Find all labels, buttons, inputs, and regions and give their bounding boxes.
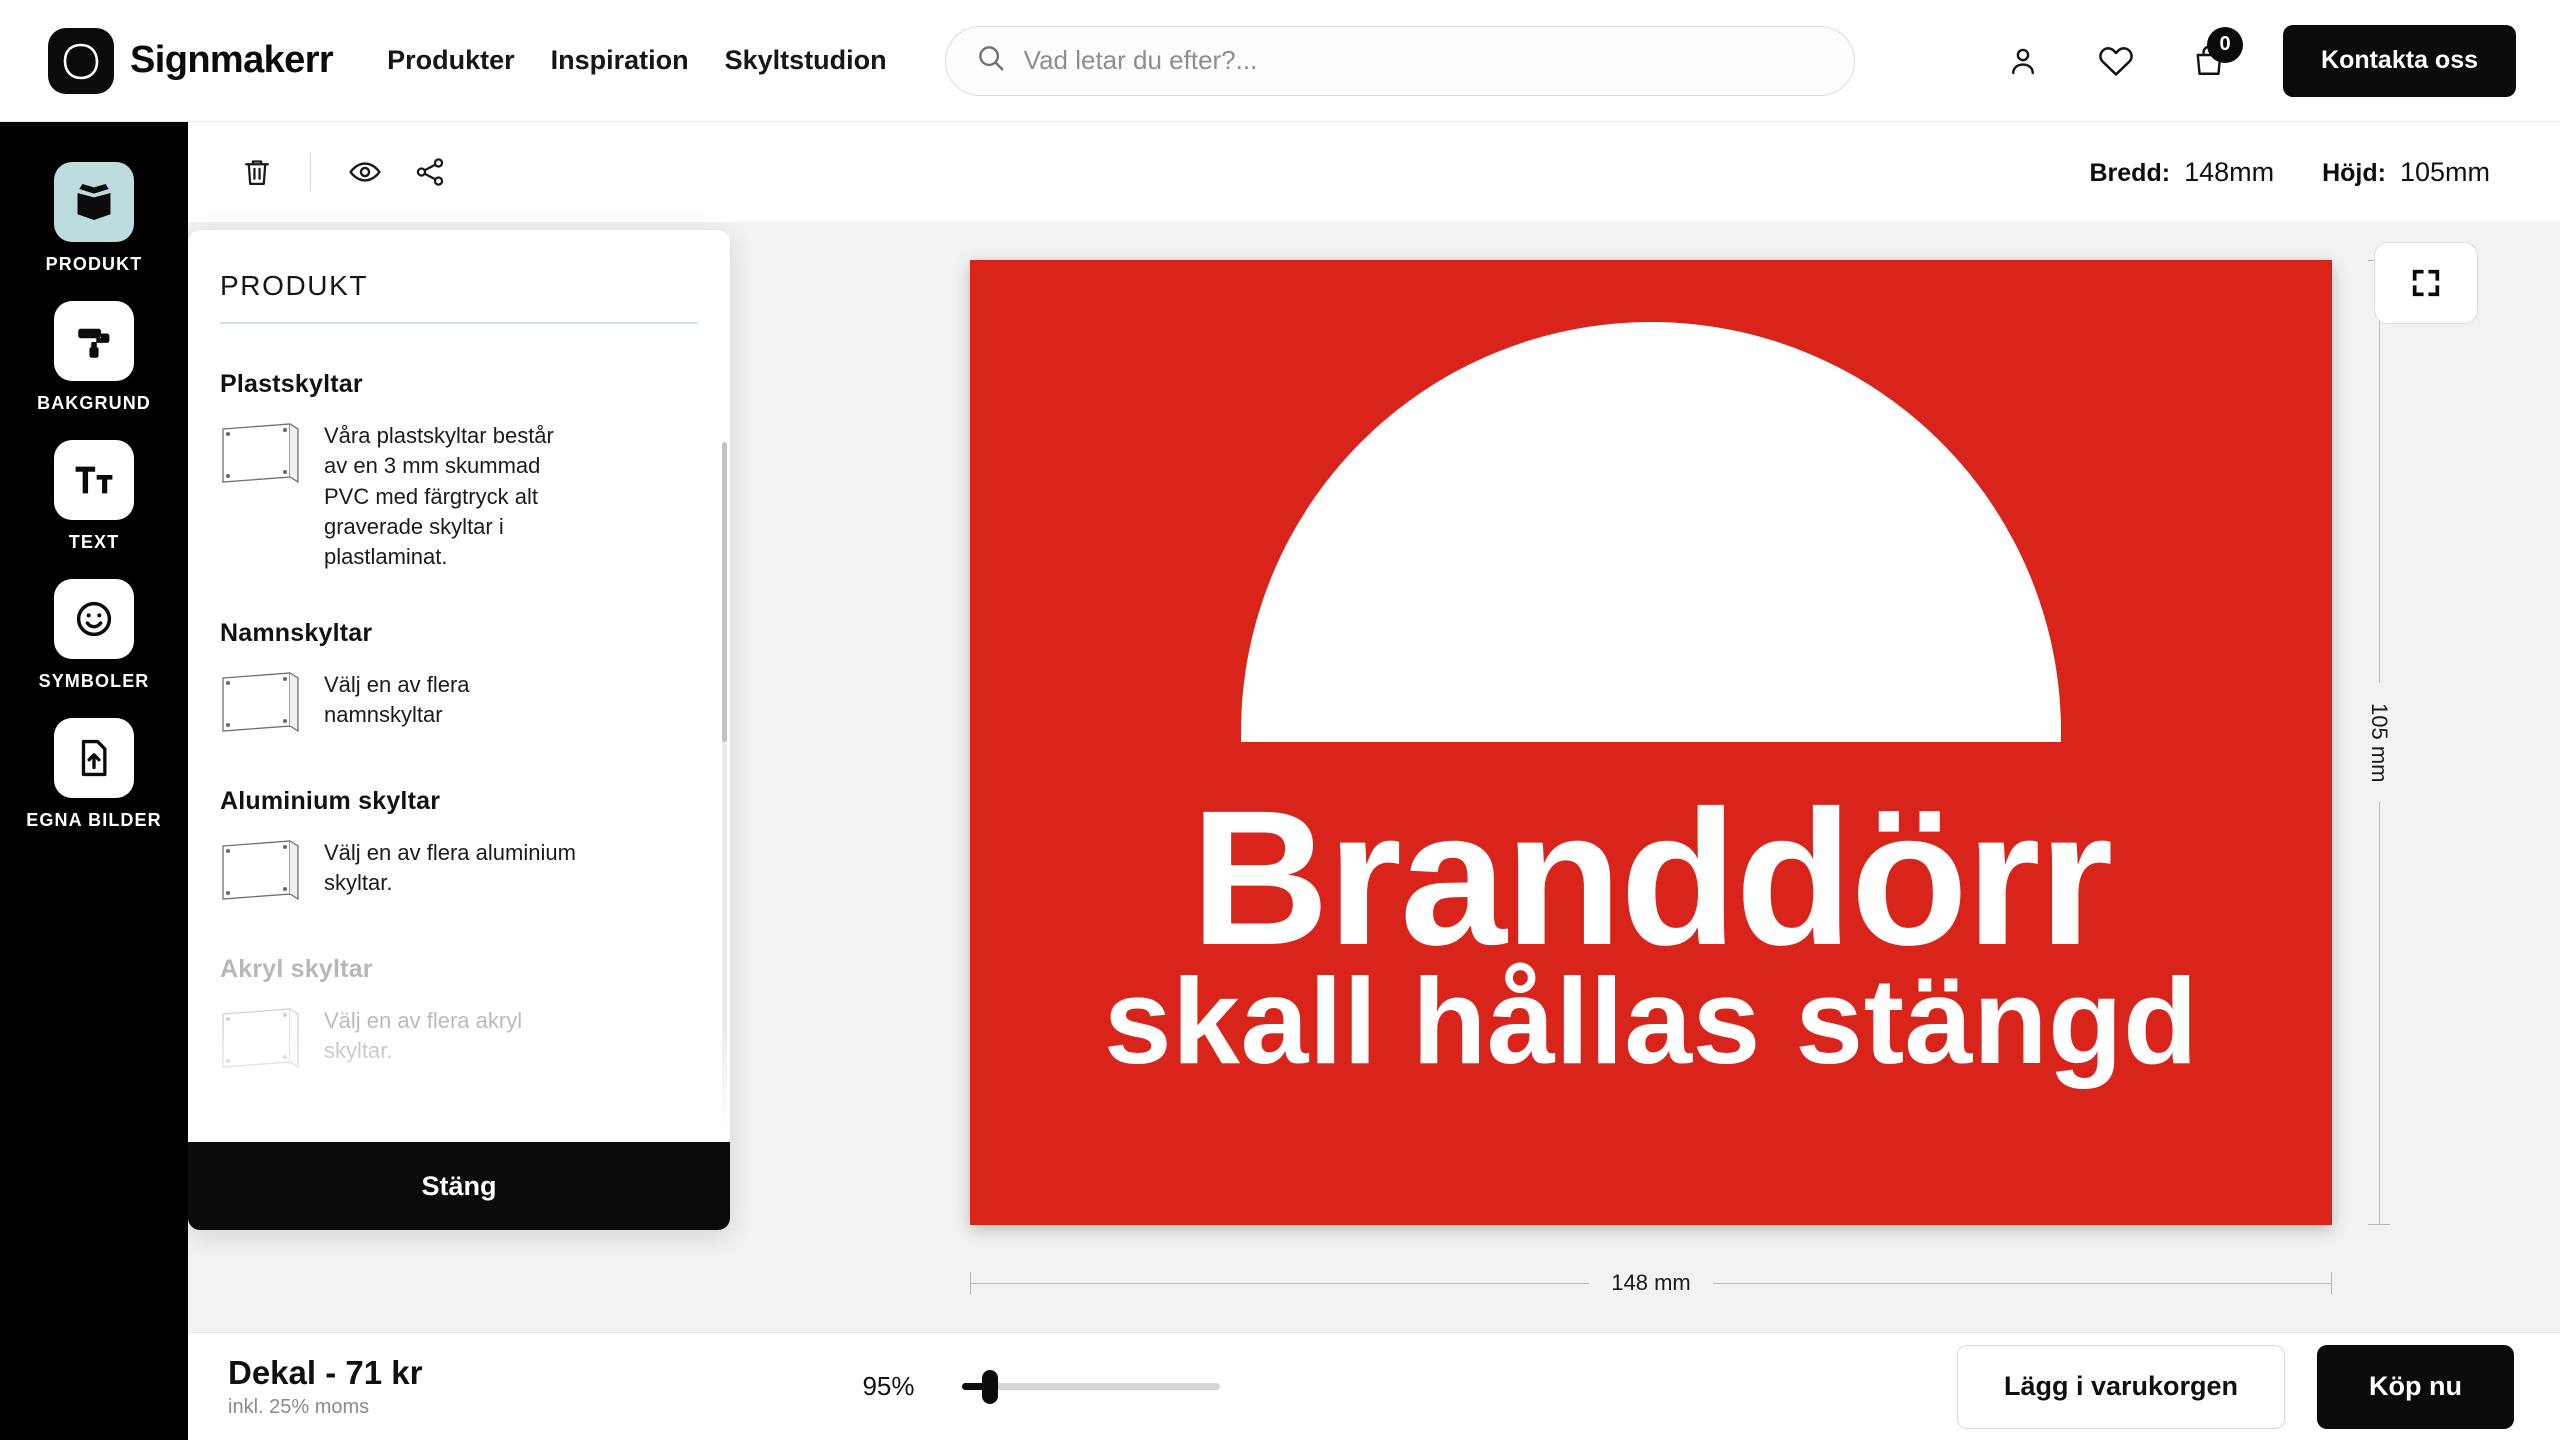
contact-button[interactable]: Kontakta oss: [2283, 25, 2516, 97]
dimension-width: Bredd: 148mm: [2090, 157, 2275, 188]
height-value: 105mm: [2400, 157, 2490, 188]
product-row: Välj en av flera akryl skyltar.: [220, 1006, 698, 1077]
sign-text-line2[interactable]: skall hållas stängd: [970, 960, 2332, 1082]
rail-label-egna-bilder: EGNA BILDER: [26, 810, 161, 831]
width-guide-label: 148 mm: [1589, 1270, 1712, 1296]
panel-close-button[interactable]: Stäng: [188, 1142, 730, 1230]
rail-item-symboler[interactable]: SYMBOLER: [39, 579, 150, 692]
product-row: Välj en av flera namnskyltar: [220, 670, 698, 741]
guide-line-left: [971, 1283, 1589, 1284]
text-tt-icon: [54, 440, 134, 520]
product-name: Akryl skyltar: [220, 955, 698, 984]
panel-header: PRODUKT: [188, 230, 730, 324]
product-description: Välj en av flera namnskyltar: [324, 670, 579, 731]
trash-icon[interactable]: [240, 155, 274, 189]
price-title: Dekal - 71 kr: [228, 1354, 422, 1392]
height-guide-label: 105 mm: [2366, 683, 2392, 802]
dimension-height: Höjd: 105mm: [2322, 157, 2490, 188]
brand-name: Signmakerr: [130, 39, 333, 82]
product-item-aluminium-skyltar[interactable]: Aluminium skyltar Välj en av flera alumi…: [220, 787, 698, 909]
product-list[interactable]: Plastskyltar Våra plastskyltar består av…: [188, 324, 730, 1142]
fullscreen-expand-icon[interactable]: [2374, 242, 2478, 324]
guide-line-bottom: [2379, 802, 2380, 1224]
product-name: Aluminium skyltar: [220, 787, 698, 816]
nav-link-skyltstudion[interactable]: Skyltstudion: [725, 45, 887, 76]
tool-rail: PRODUKT BAKGRUND TEXT: [0, 122, 188, 1440]
height-label: Höjd:: [2322, 159, 2386, 188]
product-name: Namnskyltar: [220, 619, 698, 648]
guide-cap-right: [2331, 1272, 2332, 1294]
rail-item-produkt[interactable]: PRODUKT: [46, 162, 143, 275]
zoom-slider[interactable]: [962, 1370, 1220, 1404]
rail-item-bakgrund[interactable]: BAKGRUND: [37, 301, 151, 414]
sign-dimensions: Bredd: 148mm Höjd: 105mm: [2090, 157, 2491, 188]
editor-toolbar: Bredd: 148mm Höjd: 105mm: [188, 122, 2560, 222]
sign-preview[interactable]: Branddörr skall hållas stängd: [970, 260, 2332, 1225]
user-icon[interactable]: [2005, 43, 2041, 79]
guide-cap-bottom: [2368, 1224, 2390, 1225]
rail-item-text[interactable]: TEXT: [54, 440, 134, 553]
product-row: Välj en av flera aluminium skyltar.: [220, 838, 698, 909]
product-description: Välj en av flera aluminium skyltar.: [324, 838, 579, 899]
width-label: Bredd:: [2090, 159, 2171, 188]
open-box-icon: [54, 162, 134, 242]
product-item-akryl-skyltar[interactable]: Akryl skyltar Välj en av flera akryl sky…: [220, 955, 698, 1077]
sign-plate-icon: [220, 838, 302, 909]
rail-item-egna-bilder[interactable]: EGNA BILDER: [26, 718, 161, 831]
product-name: Plastskyltar: [220, 370, 698, 399]
search-bar[interactable]: [945, 26, 1855, 96]
guide-line-right: [1713, 1283, 2331, 1284]
width-value: 148mm: [2184, 157, 2274, 188]
brand-logo[interactable]: Signmakerr: [48, 28, 333, 94]
zoom-slider-thumb[interactable]: [982, 1370, 998, 1404]
panel-title: PRODUKT: [220, 270, 698, 302]
header-actions: 0 Kontakta oss: [2005, 25, 2516, 97]
width-guide: 148 mm: [970, 1270, 2332, 1296]
search-input[interactable]: [1024, 45, 1824, 76]
price-block: Dekal - 71 kr inkl. 25% moms: [228, 1354, 422, 1419]
cart-count-badge: 0: [2207, 27, 2243, 63]
sign-plate-icon: [220, 670, 302, 741]
toolbar-tools: [240, 153, 447, 191]
product-description: Välj en av flera akryl skyltar.: [324, 1006, 579, 1067]
product-item-plastskyltar[interactable]: Plastskyltar Våra plastskyltar består av…: [220, 370, 698, 573]
site-header: Signmakerr Produkter Inspiration Skyltst…: [0, 0, 2560, 122]
sign-plate-icon: [220, 421, 302, 492]
smiley-face-icon: [54, 579, 134, 659]
add-to-cart-button[interactable]: Lägg i varukorgen: [1957, 1345, 2285, 1429]
product-panel: PRODUKT Plastskyltar Våra plastskyltar b…: [188, 230, 730, 1230]
nav-link-produkter[interactable]: Produkter: [387, 45, 515, 76]
rail-label-text: TEXT: [69, 532, 119, 553]
toolbar-divider: [310, 153, 311, 191]
guide-line-top: [2379, 261, 2380, 683]
height-guide: 105 mm: [2366, 260, 2392, 1225]
search-icon: [976, 43, 1006, 78]
buy-now-button[interactable]: Köp nu: [2317, 1345, 2514, 1429]
cart-actions: Lägg i varukorgen Köp nu: [1957, 1345, 2514, 1429]
zoom-percentage: 95%: [862, 1371, 934, 1402]
sign-plate-icon: [220, 1006, 302, 1077]
heart-icon[interactable]: [2097, 42, 2135, 80]
paint-roller-icon: [54, 301, 134, 381]
sign-dome-shape: [1241, 322, 2061, 742]
bottom-bar: Dekal - 71 kr inkl. 25% moms 95% Lägg i …: [188, 1332, 2560, 1440]
price-subtitle: inkl. 25% moms: [228, 1396, 422, 1419]
product-row: Våra plastskyltar består av en 3 mm skum…: [220, 421, 698, 573]
nav-link-inspiration[interactable]: Inspiration: [551, 45, 689, 76]
product-description: Våra plastskyltar består av en 3 mm skum…: [324, 421, 579, 573]
rail-label-produkt: PRODUKT: [46, 254, 143, 275]
panel-scrollbar-thumb[interactable]: [722, 442, 727, 742]
file-upload-icon: [54, 718, 134, 798]
signmakerr-blob-logo-icon: [48, 28, 114, 94]
share-icon[interactable]: [413, 155, 447, 189]
main-nav: Produkter Inspiration Skyltstudion: [387, 45, 887, 76]
product-item-namnskyltar[interactable]: Namnskyltar Välj en av flera namnskyltar: [220, 619, 698, 741]
rail-label-bakgrund: BAKGRUND: [37, 393, 151, 414]
sign-text-line1[interactable]: Branddörr: [970, 782, 2332, 974]
rail-label-symboler: SYMBOLER: [39, 671, 150, 692]
shopping-bag-icon[interactable]: 0: [2191, 43, 2227, 79]
zoom-slider-track: [962, 1383, 1220, 1390]
zoom-control: 95%: [862, 1370, 1220, 1404]
eye-icon[interactable]: [347, 154, 383, 190]
